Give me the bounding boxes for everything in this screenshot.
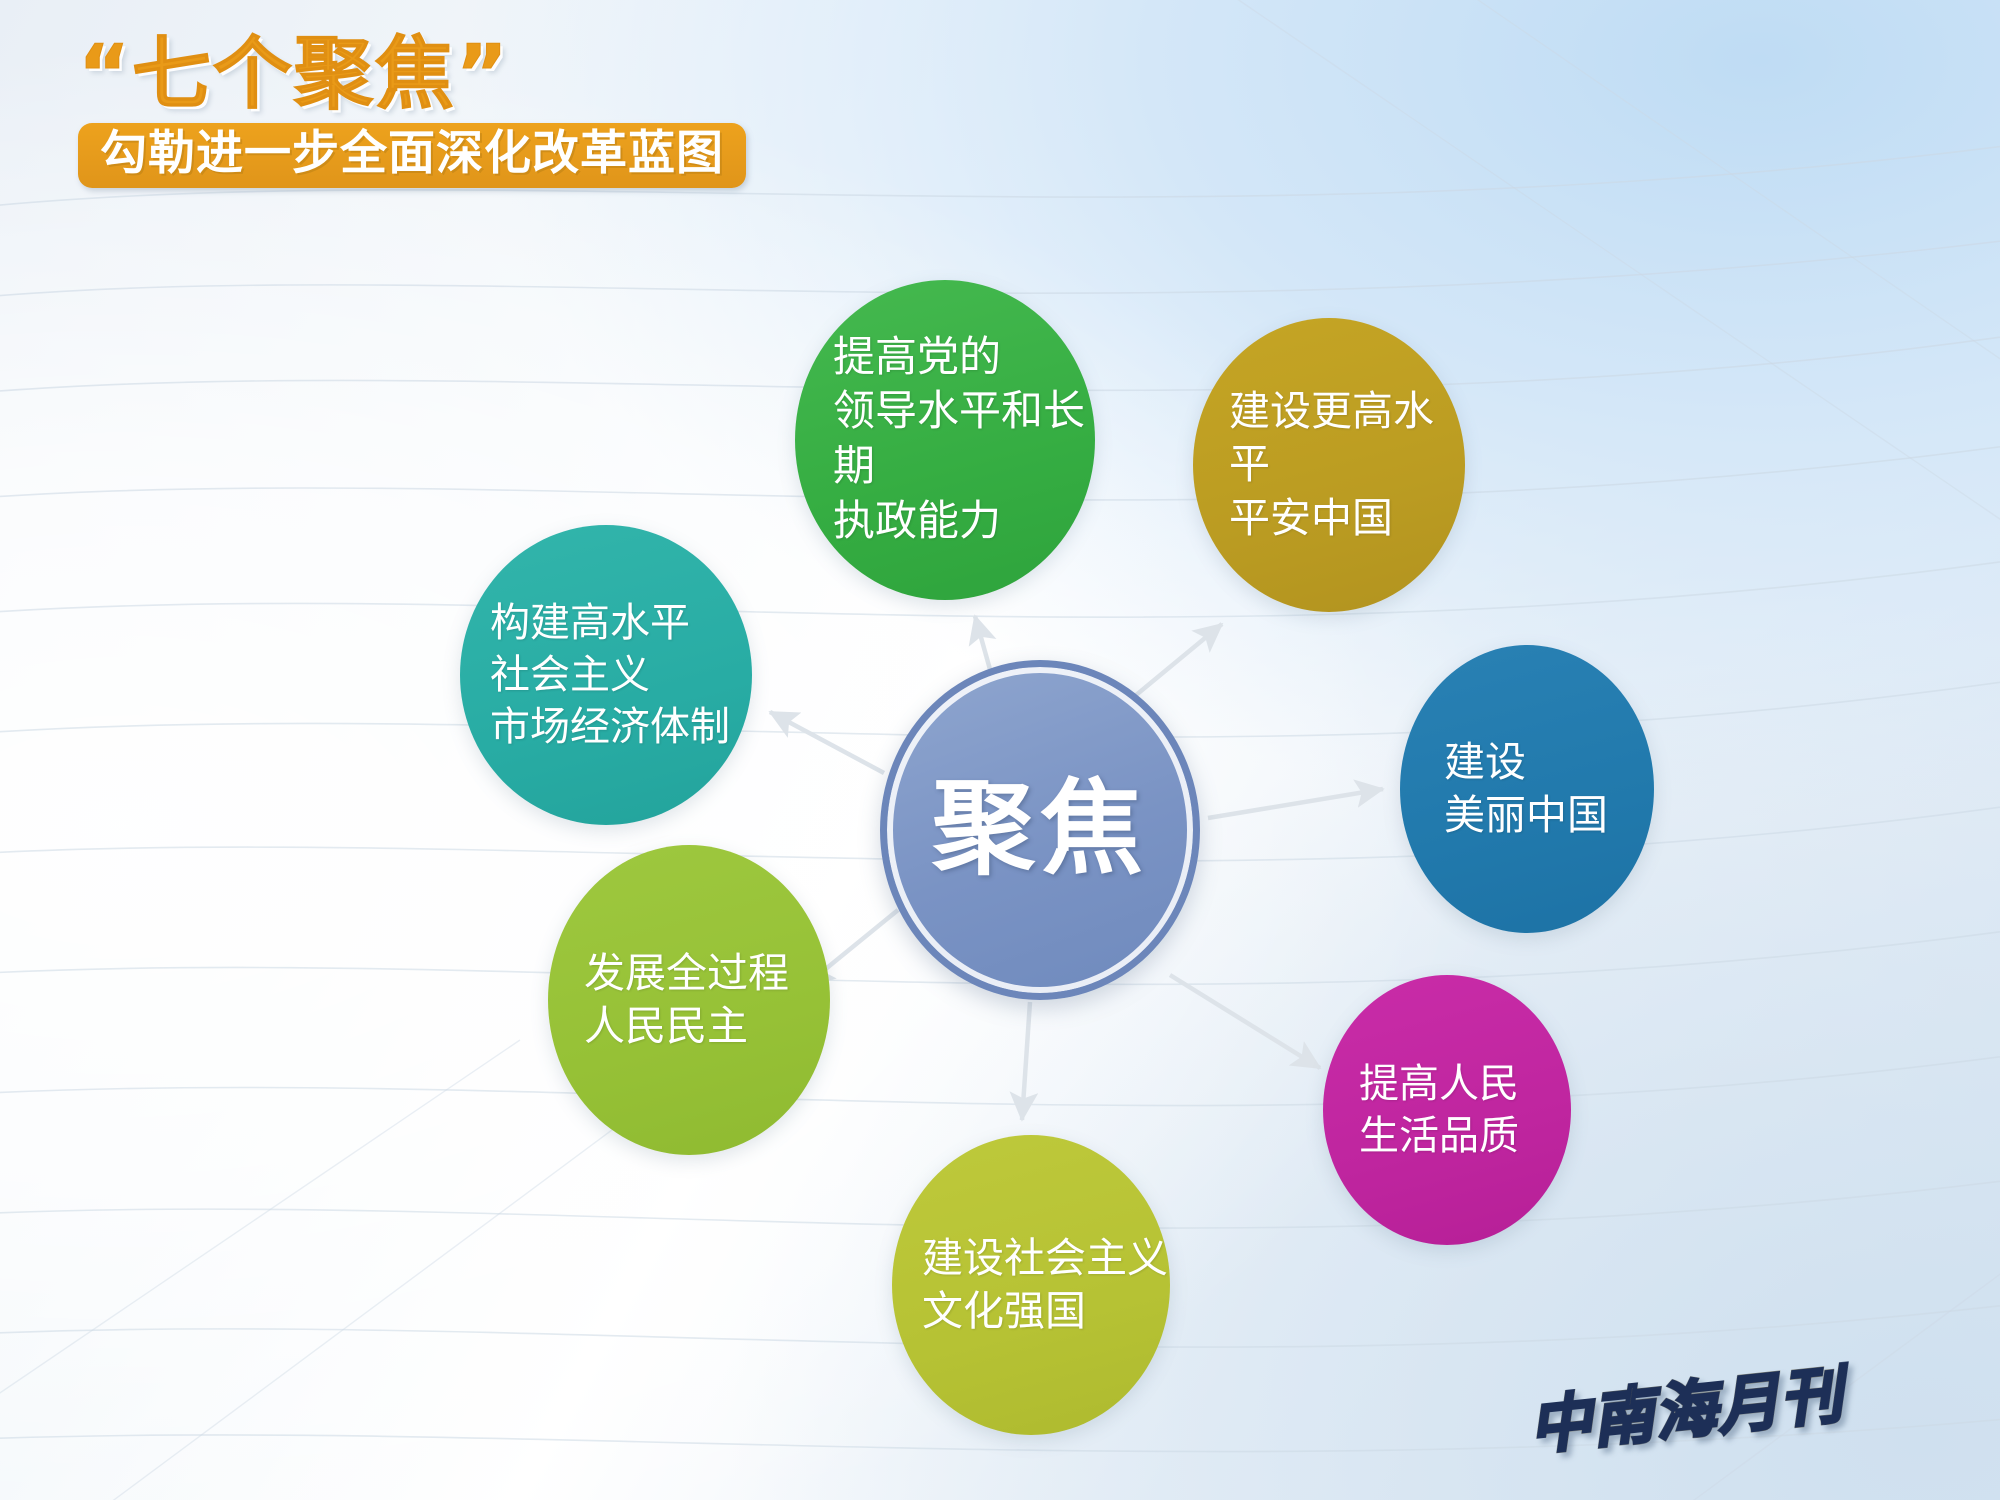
node-beautiful-china-label: 建设 美丽中国 [1400,736,1608,843]
subtitle-banner: 勾勒进一步全面深化改革蓝图 [78,123,746,189]
page-subtitle: 勾勒进一步全面深化改革蓝图 [100,130,724,179]
node-safe-china-label: 建设更高水平 平安中国 [1193,385,1465,545]
arrow-to-culture-power [1022,1002,1030,1120]
node-beautiful-china[interactable]: 建设 美丽中国 [1400,645,1654,933]
arrow-to-life-quality [1170,975,1320,1068]
arrow-to-beautiful-china [1208,789,1383,818]
publication-logo-text: 中南海月刊 [1524,1344,1847,1466]
node-party-leadership[interactable]: 提高党的 领导水平和长期 执政能力 [795,280,1095,600]
center-node-focus[interactable]: 聚焦 [880,660,1200,1000]
node-market-economy[interactable]: 构建高水平 社会主义 市场经济体制 [460,525,752,825]
center-node-label: 聚焦 [932,779,1148,882]
node-life-quality[interactable]: 提高人民 生活品质 [1323,975,1571,1245]
node-life-quality-label: 提高人民 生活品质 [1323,1058,1519,1162]
node-culture-power-label: 建设社会主义 文化强国 [892,1232,1168,1339]
page-title: “七个聚焦” [78,34,746,115]
arrow-to-market-economy [770,712,884,773]
node-culture-power[interactable]: 建设社会主义 文化强国 [892,1135,1170,1435]
publication-logo: 中南海月刊 [1524,1344,1847,1466]
node-whole-process-democracy[interactable]: 发展全过程 人民民主 [548,845,830,1155]
node-market-economy-label: 构建高水平 社会主义 市场经济体制 [460,597,730,753]
node-safe-china[interactable]: 建设更高水平 平安中国 [1193,318,1465,612]
infographic-canvas: “七个聚焦” 勾勒进一步全面深化改革蓝图 聚焦 提高党的 领导水平和长期 执政能… [0,0,2000,1500]
title-block: “七个聚焦” 勾勒进一步全面深化改革蓝图 [78,34,746,188]
node-whole-process-democracy-label: 发展全过程 人民民主 [548,947,789,1054]
node-party-leadership-label: 提高党的 领导水平和长期 执政能力 [795,331,1095,549]
